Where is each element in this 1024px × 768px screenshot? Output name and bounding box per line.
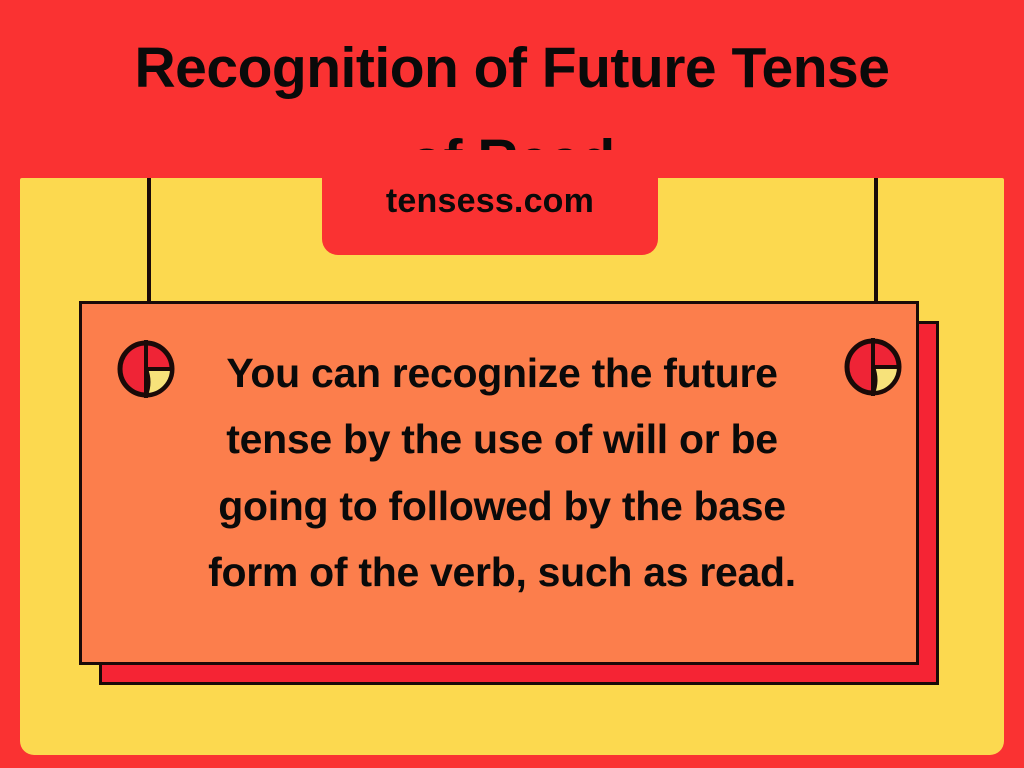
content-panel: You can recognize the future tense by th…: [79, 301, 919, 665]
pie-wedge-icon-left: [115, 338, 177, 400]
site-name: tensess.com: [322, 182, 658, 221]
pie-wedge-icon-right: [842, 336, 904, 398]
site-name-tab: tensess.com: [322, 150, 658, 255]
body-text: You can recognize the future tense by th…: [178, 340, 826, 606]
poster-canvas: You can recognize the future tense by th…: [0, 0, 1024, 768]
